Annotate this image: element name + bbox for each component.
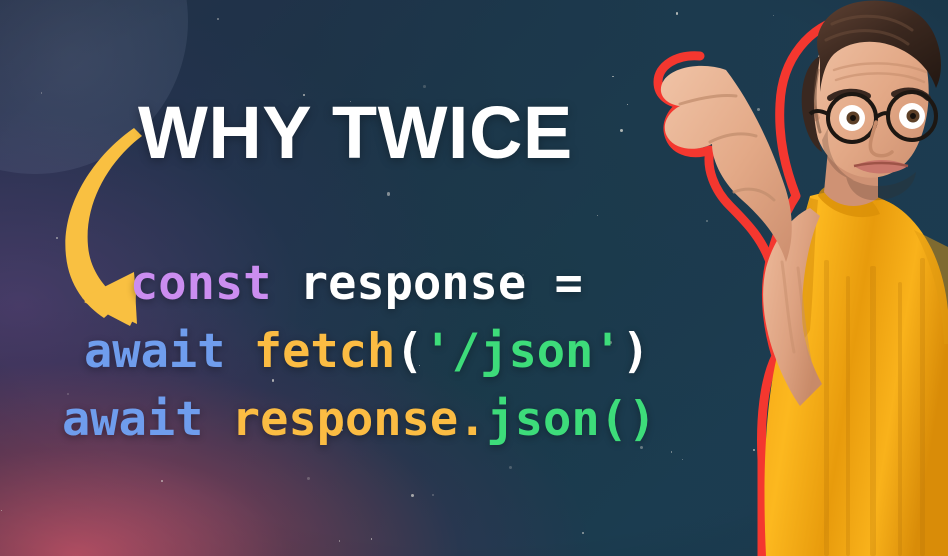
code-token: response <box>300 256 526 311</box>
code-token: = <box>554 256 582 311</box>
shrugging-man-cutout <box>614 0 948 556</box>
code-token <box>271 256 299 311</box>
code-token: response. <box>232 392 487 447</box>
code-token <box>526 256 554 311</box>
code-token: const <box>130 256 271 311</box>
code-token: await <box>62 392 203 447</box>
code-token: await <box>84 324 225 379</box>
code-token: ( <box>395 324 423 379</box>
code-token: fetch <box>254 324 395 379</box>
code-token: '/json' <box>424 324 622 379</box>
code-token <box>203 392 231 447</box>
meme-canvas: WHY TWICE const response =await fetch('/… <box>0 0 948 556</box>
page-title: WHY TWICE <box>138 96 573 170</box>
code-token <box>225 324 253 379</box>
